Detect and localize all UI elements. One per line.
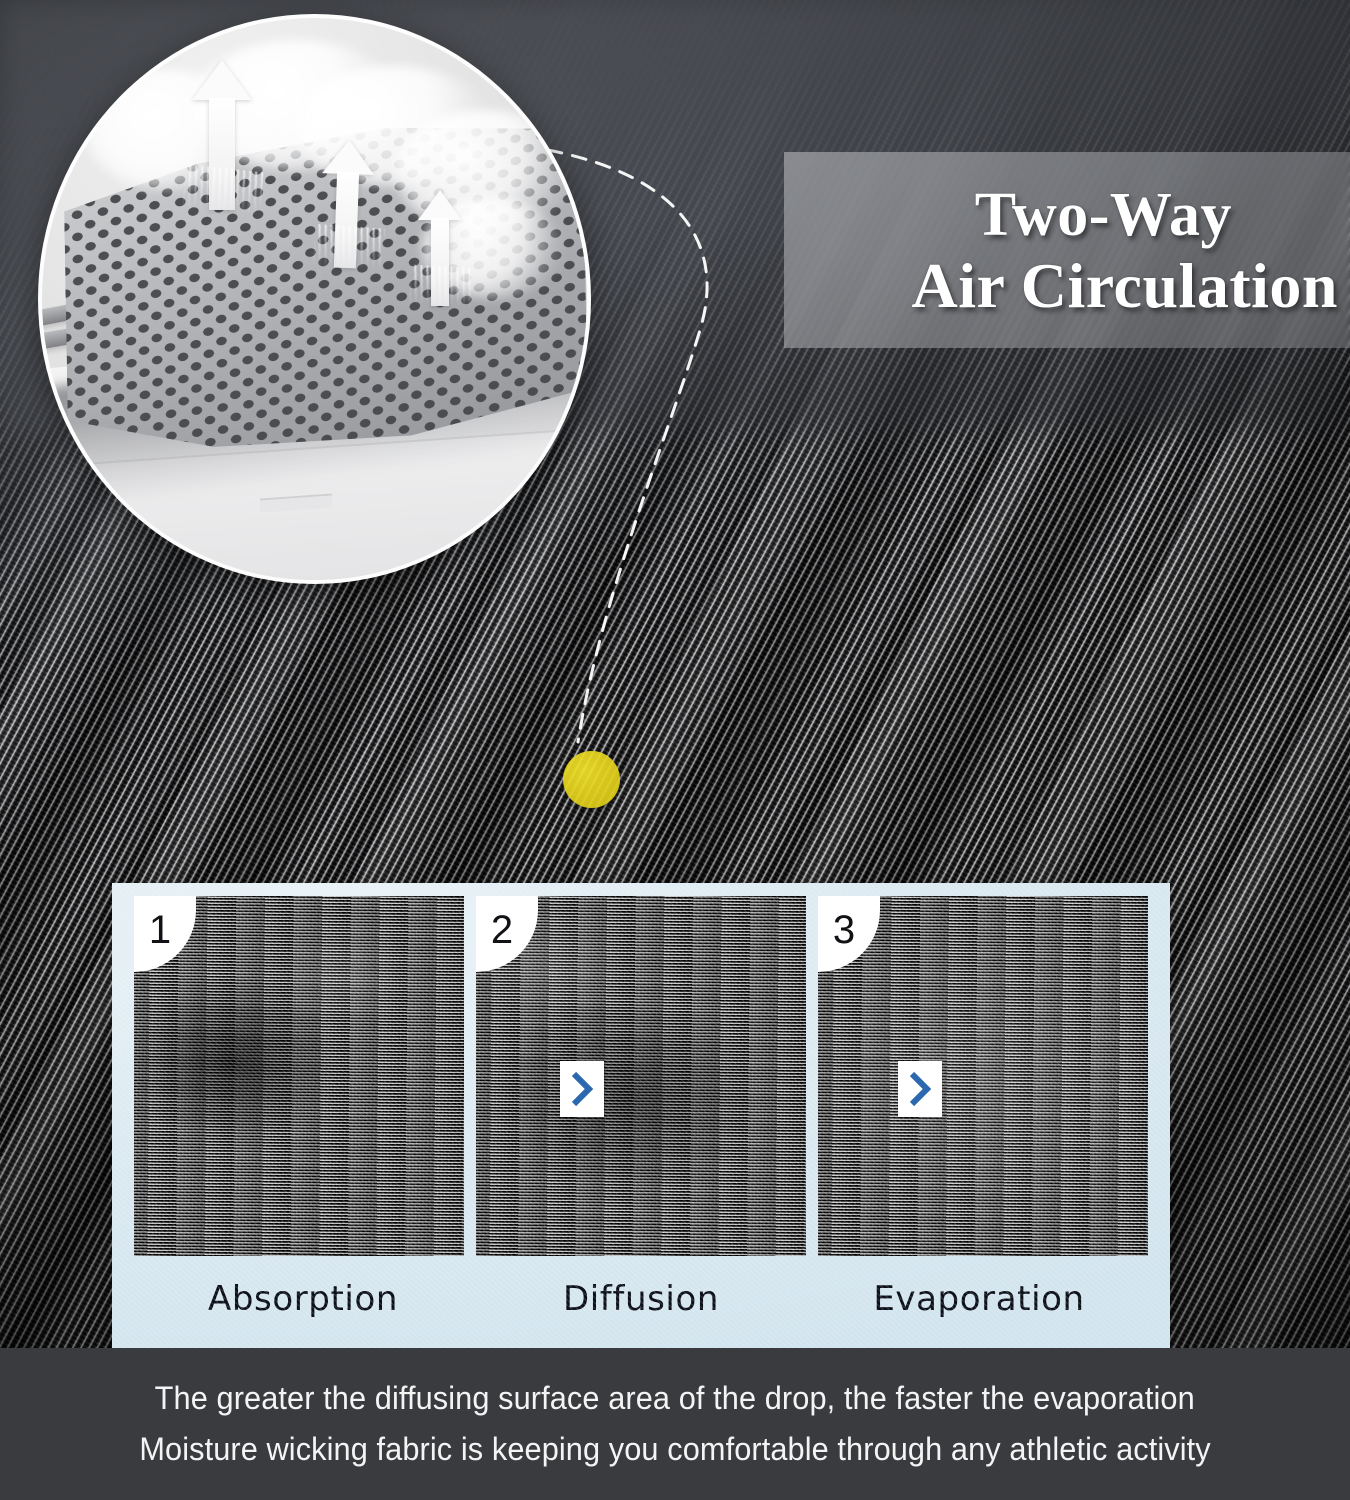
- product-feature-image: Two-Way Air Circulation 1 2 3: [0, 0, 1350, 1500]
- swatch-moisture-blotch-3: [818, 896, 1148, 1256]
- chevron-right-icon: [908, 1071, 932, 1107]
- caption-line-2: Moisture wicking fabric is keeping you c…: [139, 1431, 1210, 1468]
- moisture-drop-marker: [563, 751, 620, 808]
- step-label-cell-2: Diffusion: [472, 1268, 810, 1330]
- swatch-moisture-blotch-2: [476, 896, 806, 1256]
- process-steps-panel: 1 2 3 Absorption: [112, 883, 1170, 1348]
- step-label-row: Absorption Diffusion Evaporation: [134, 1268, 1148, 1330]
- headline-line-1: Two-Way: [975, 184, 1232, 246]
- fabric-swatch-absorption: 1: [134, 896, 464, 1256]
- air-flow-streaks-1: [182, 164, 264, 216]
- step-arrow-2-to-3: [898, 1061, 942, 1117]
- air-flow-streaks-3: [409, 264, 473, 307]
- step-label-cell-3: Evaporation: [810, 1268, 1148, 1330]
- air-flow-streaks-2: [313, 224, 386, 271]
- step-label-diffusion: Diffusion: [563, 1279, 719, 1319]
- fabric-swatch-diffusion: 2: [476, 896, 806, 1256]
- arrow-head-2: [322, 139, 375, 175]
- step-label-evaporation: Evaporation: [873, 1279, 1084, 1319]
- headline-block: Two-Way Air Circulation: [784, 156, 1350, 346]
- swatch-moisture-blotch-1: [134, 896, 464, 1256]
- step-arrow-1-to-2: [560, 1061, 604, 1117]
- step-label-cell-1: Absorption: [134, 1268, 472, 1330]
- headline-line-2: Air Circulation: [912, 254, 1338, 318]
- fabric-swatch-row: 1 2 3: [134, 896, 1148, 1256]
- caption-line-1: The greater the diffusing surface area o…: [155, 1380, 1195, 1417]
- step-label-absorption: Absorption: [208, 1279, 398, 1319]
- fabric-structure-inset: [38, 14, 591, 584]
- arrow-head-3: [418, 190, 462, 220]
- caption-bar: The greater the diffusing surface area o…: [0, 1348, 1350, 1500]
- chevron-right-icon: [570, 1071, 594, 1107]
- fabric-swatch-evaporation: 3: [818, 896, 1148, 1256]
- arrow-head-1: [192, 60, 252, 100]
